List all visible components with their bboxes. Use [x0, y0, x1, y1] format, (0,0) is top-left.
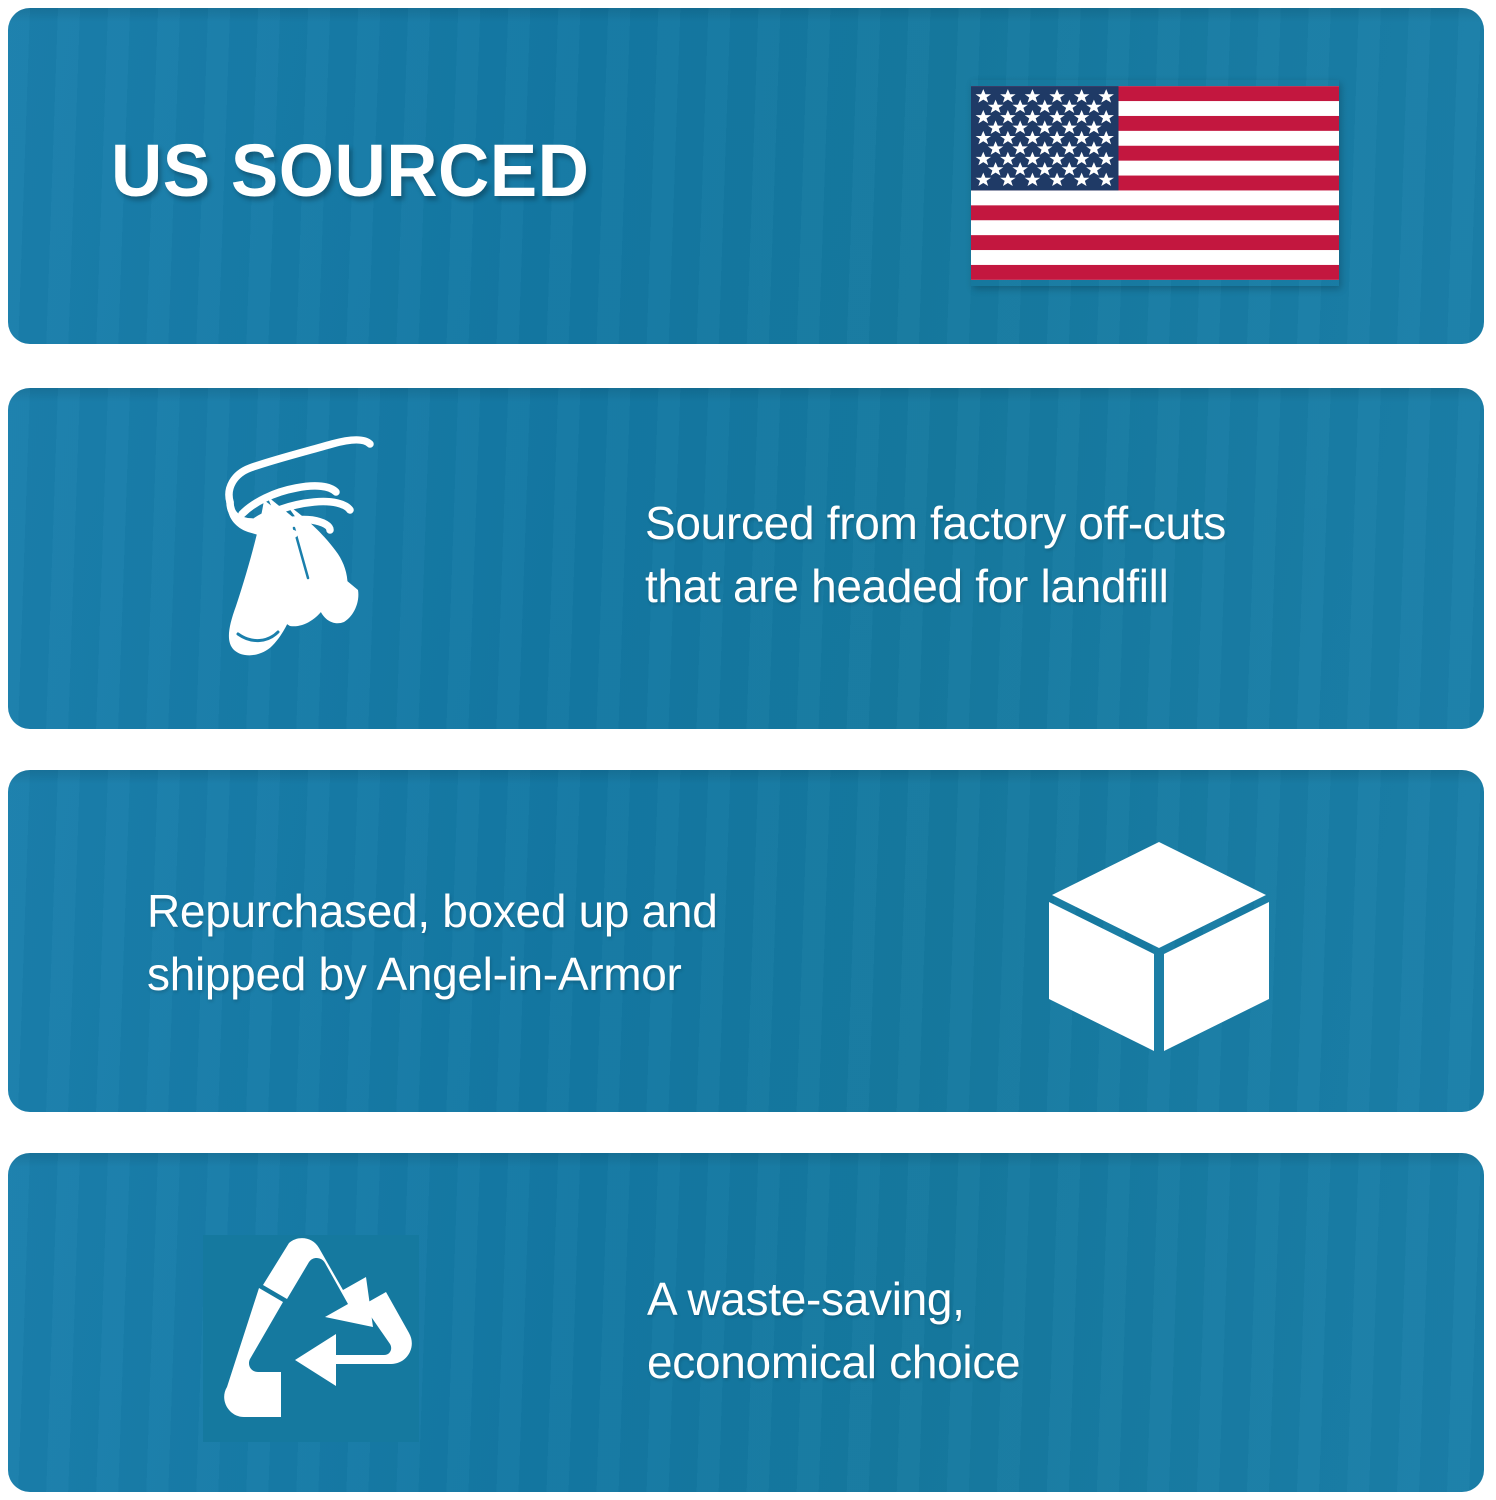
feature-text-repurchased: Repurchased, boxed up and shipped by Ang… — [147, 880, 847, 1005]
page-title: US SOURCED — [111, 134, 589, 208]
usa-flag-icon — [971, 80, 1339, 286]
feature-text-factory-offcuts: Sourced from factory off-cuts that are h… — [645, 492, 1425, 617]
hand-holding-cloth-icon — [212, 430, 424, 662]
recycle-icon — [203, 1235, 419, 1442]
panel-us-sourced: US SOURCED — [8, 8, 1484, 344]
us-sourced-infographic: US SOURCED — [0, 0, 1496, 1500]
feature-text-economical: A waste-saving, economical choice — [647, 1268, 1267, 1393]
shipping-box-icon — [1044, 838, 1274, 1055]
